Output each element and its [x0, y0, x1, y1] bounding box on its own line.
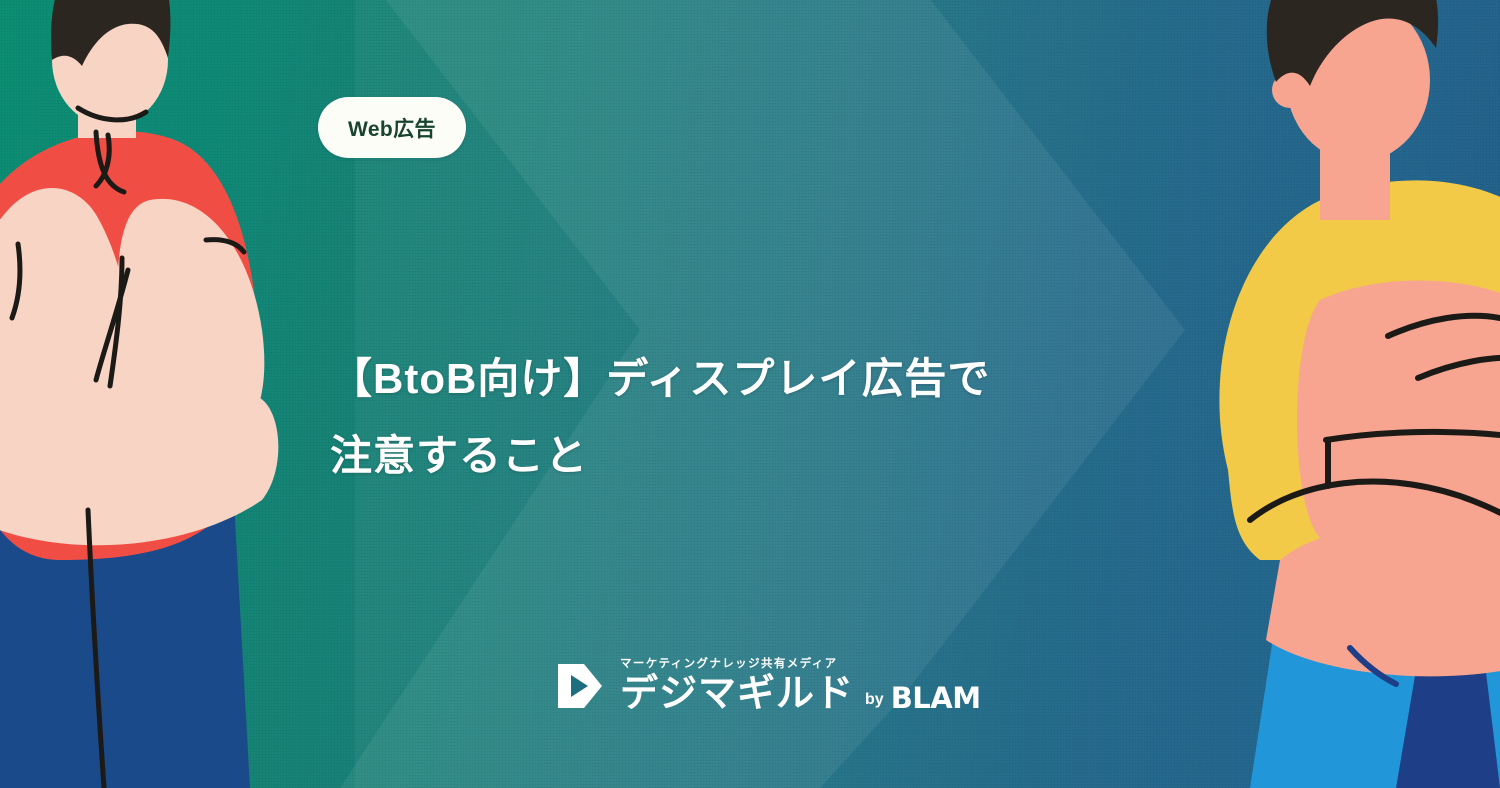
category-badge[interactable]: Web広告: [318, 97, 466, 158]
illustration-person-left: [0, 0, 300, 788]
article-title: 【BtoB向け】ディスプレイ広告で 注意すること: [330, 340, 1090, 494]
article-title-line-1: 【BtoB向け】ディスプレイ広告で: [330, 340, 1090, 417]
logo-name-row: デジマギルド by BLAM: [620, 674, 981, 714]
logo-parent-brand: BLAM: [891, 683, 981, 713]
logo-by-label: by: [865, 691, 884, 709]
article-hero-banner: Web広告 【BtoB向け】ディスプレイ広告で 注意すること マーケティングナレ…: [0, 0, 1500, 788]
category-badge-label: Web広告: [348, 113, 436, 143]
logo-text-block: マーケティングナレッジ共有メディア デジマギルド by BLAM: [620, 657, 981, 714]
illustration-person-right: [1170, 0, 1500, 788]
site-logo[interactable]: マーケティングナレッジ共有メディア デジマギルド by BLAM: [552, 648, 981, 714]
digima-guild-d-mark-icon: [552, 658, 608, 714]
logo-tagline: マーケティングナレッジ共有メディア: [620, 657, 981, 671]
article-title-line-2: 注意すること: [330, 417, 1090, 494]
logo-name: デジマギルド: [620, 674, 854, 714]
